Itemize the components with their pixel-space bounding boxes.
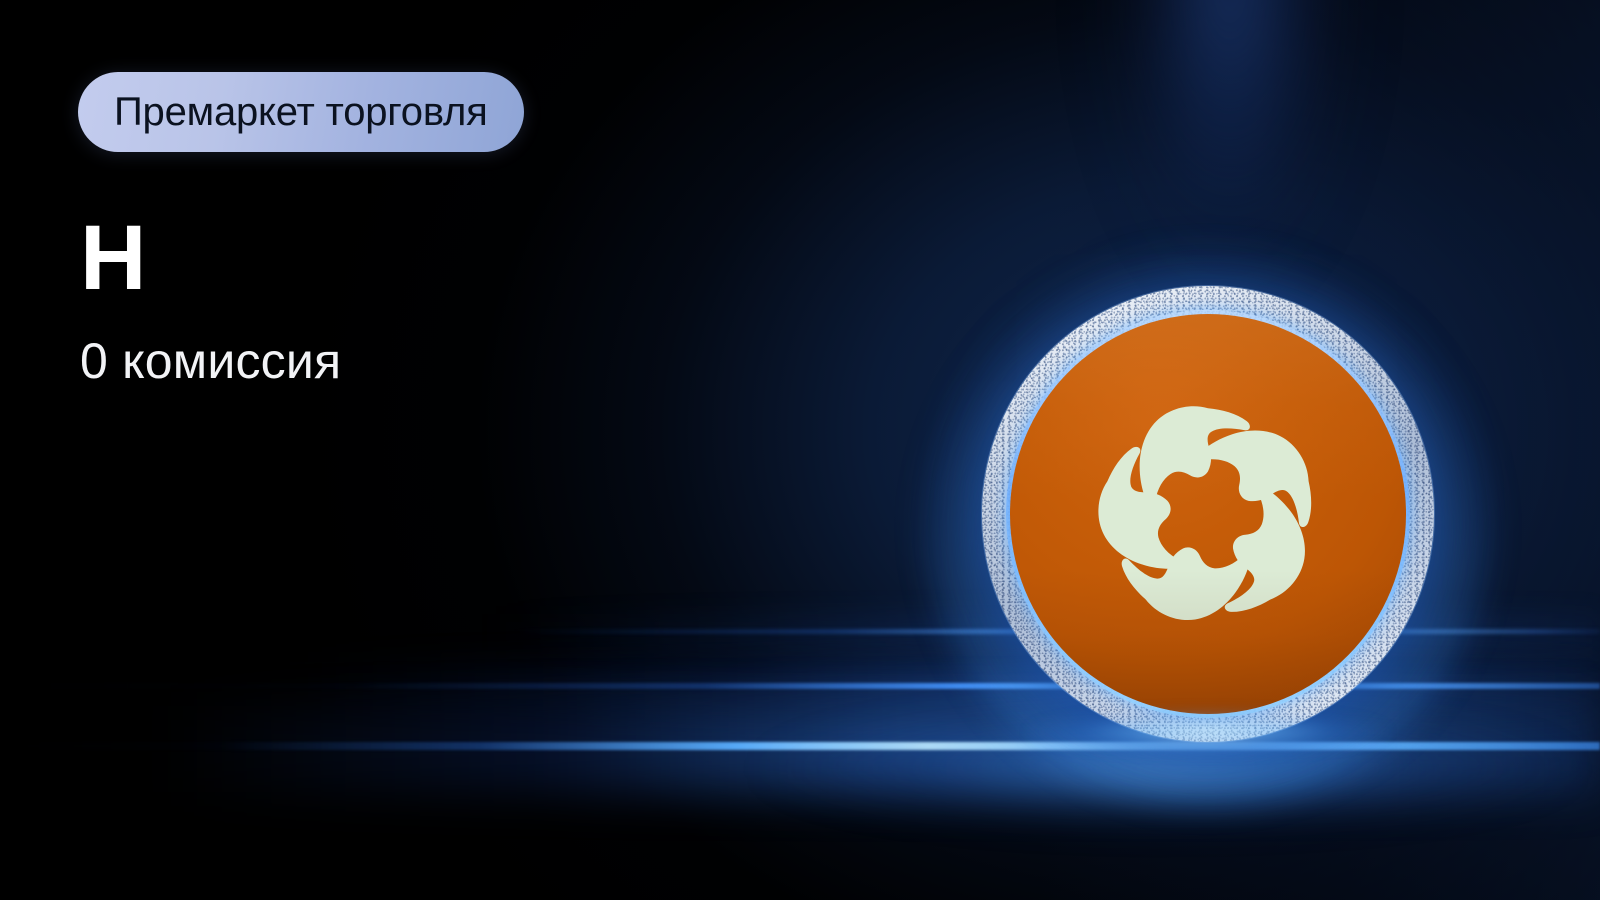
coin-graphic [982,286,1434,742]
coin-face [1010,314,1406,714]
commission-subtitle: 0 комиссия [80,336,341,386]
premarket-badge[interactable]: Премаркет торговля [78,72,524,152]
banner-stage: Премаркет торговля H 0 комиссия [0,0,1600,900]
ticker-headline: H [80,212,146,304]
premarket-badge-label: Премаркет торговля [114,92,488,132]
hyperliquid-logo-icon [1079,385,1337,643]
